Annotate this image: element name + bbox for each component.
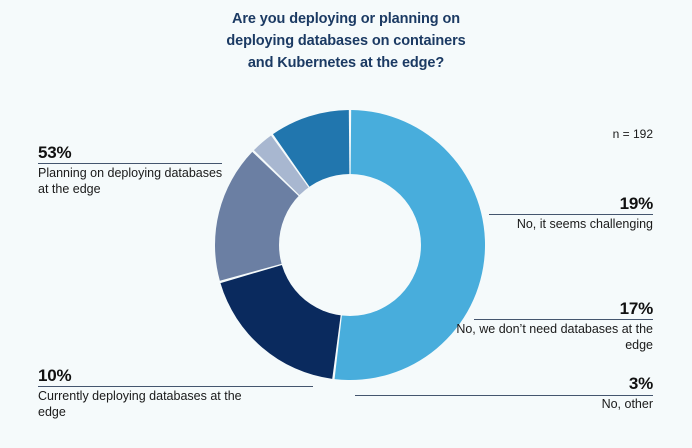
callout-no-need-label: No, we don’t need databases at the edge xyxy=(453,319,653,353)
callout-no-need: 17% No, we don’t need databases at the e… xyxy=(453,299,653,353)
chart-title-line-1: Are you deploying or planning on xyxy=(0,8,692,30)
chart-title-line-2: deploying databases on containers xyxy=(0,30,692,52)
chart-title: Are you deploying or planning on deployi… xyxy=(0,8,692,74)
callout-other-percent: 3% xyxy=(453,374,653,394)
chart-title-line-3: and Kubernetes at the edge? xyxy=(0,52,692,74)
callout-planning-percent: 53% xyxy=(38,143,228,163)
callout-other-label: No, other xyxy=(453,394,653,413)
chart-canvas: Are you deploying or planning on deployi… xyxy=(0,0,692,448)
callout-challenging: 19% No, it seems challenging xyxy=(463,194,653,233)
callout-planning: 53% Planning on deploying databases at t… xyxy=(38,143,228,197)
callout-challenging-label: No, it seems challenging xyxy=(463,214,653,233)
callout-currently-percent: 10% xyxy=(38,366,268,386)
callout-currently: 10% Currently deploying databases at the… xyxy=(38,366,268,420)
callout-planning-label: Planning on deploying databases at the e… xyxy=(38,163,228,197)
callout-other: 3% No, other xyxy=(453,374,653,413)
callout-no-need-percent: 17% xyxy=(453,299,653,319)
callout-currently-label: Currently deploying databases at the edg… xyxy=(38,386,268,420)
callout-challenging-percent: 19% xyxy=(463,194,653,214)
donut-chart xyxy=(190,85,510,405)
donut-hole xyxy=(279,174,421,316)
